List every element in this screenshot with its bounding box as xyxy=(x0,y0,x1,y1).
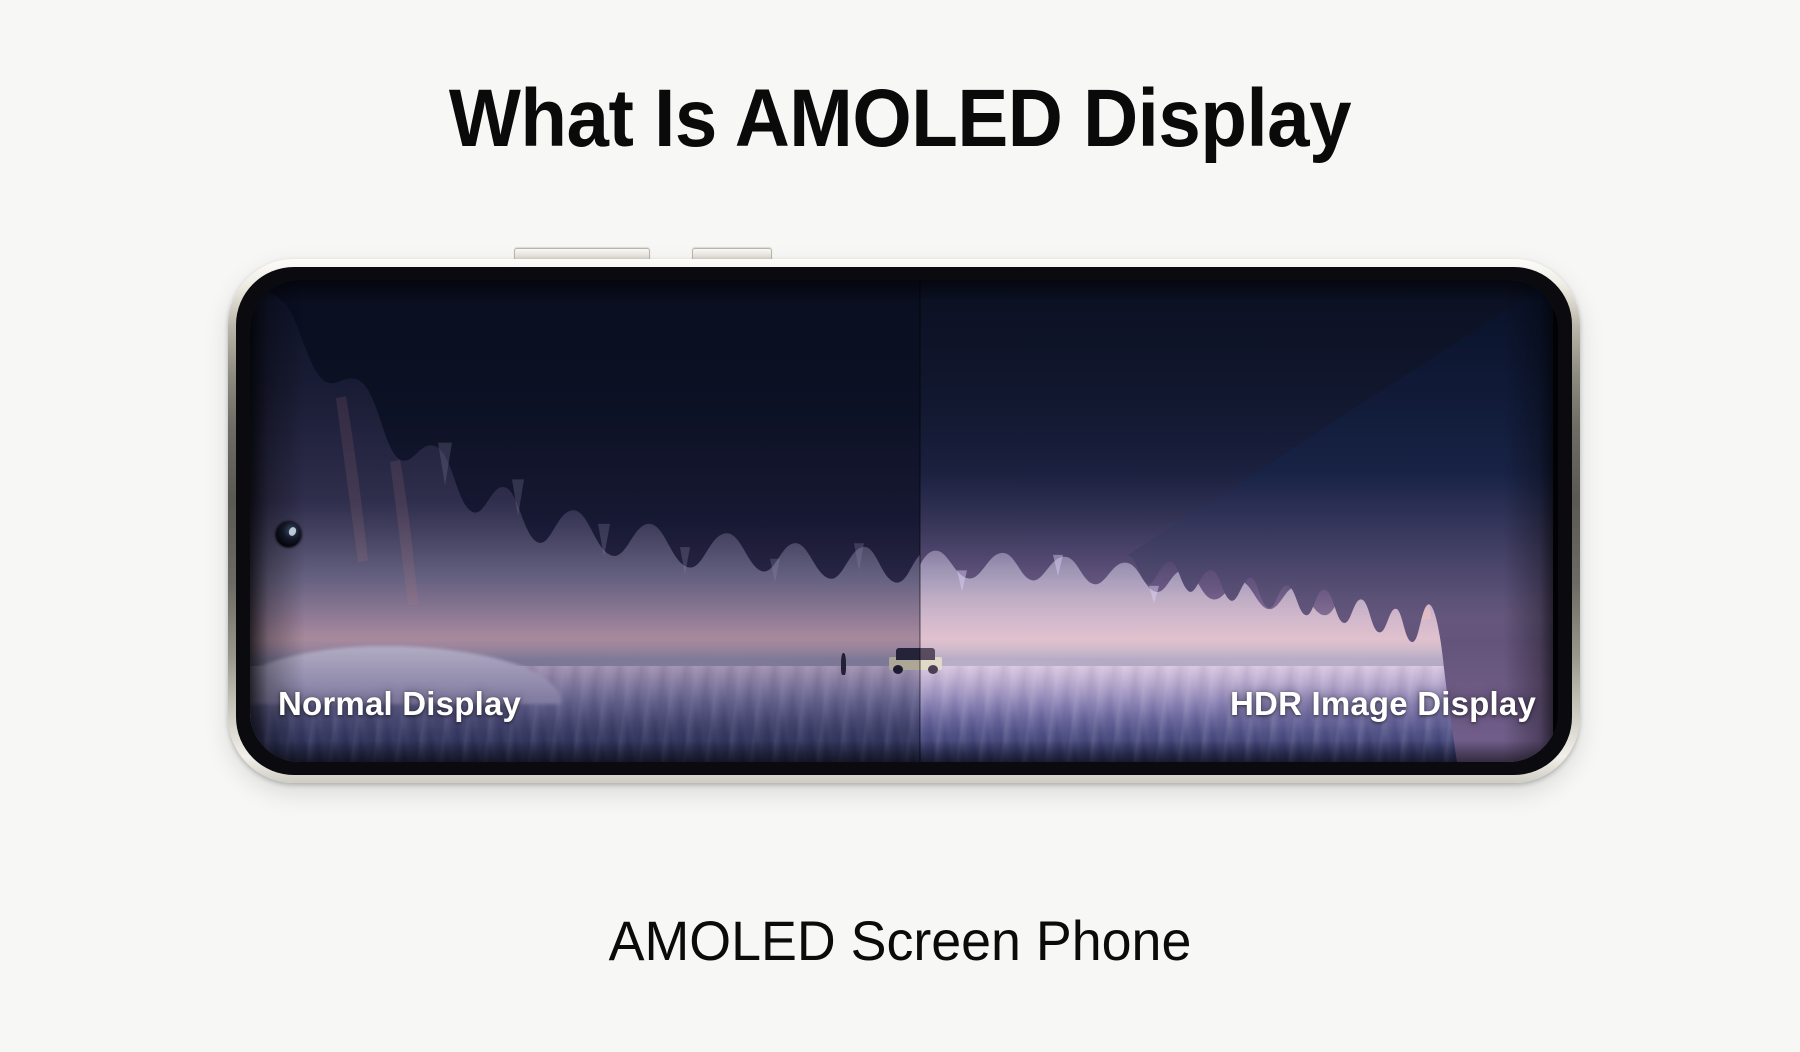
page-title: What Is AMOLED Display xyxy=(63,78,1737,160)
hdr-display-label: HDR Image Display xyxy=(1230,687,1536,720)
phone-frame: Normal Display HDR Image Display xyxy=(228,259,1580,783)
punch-hole-camera-icon xyxy=(276,522,301,547)
page-caption: AMOLED Screen Phone xyxy=(36,913,1764,969)
phone-device: Normal Display HDR Image Display xyxy=(228,245,1580,785)
person-figure xyxy=(841,653,846,675)
vehicle-figure xyxy=(889,648,920,674)
phone-bezel: Normal Display HDR Image Display xyxy=(236,267,1572,775)
vehicle-figure-hdr xyxy=(920,648,942,674)
display-split-divider xyxy=(919,280,921,762)
normal-display-label: Normal Display xyxy=(278,687,521,720)
phone-screen[interactable]: Normal Display HDR Image Display xyxy=(250,280,1558,762)
